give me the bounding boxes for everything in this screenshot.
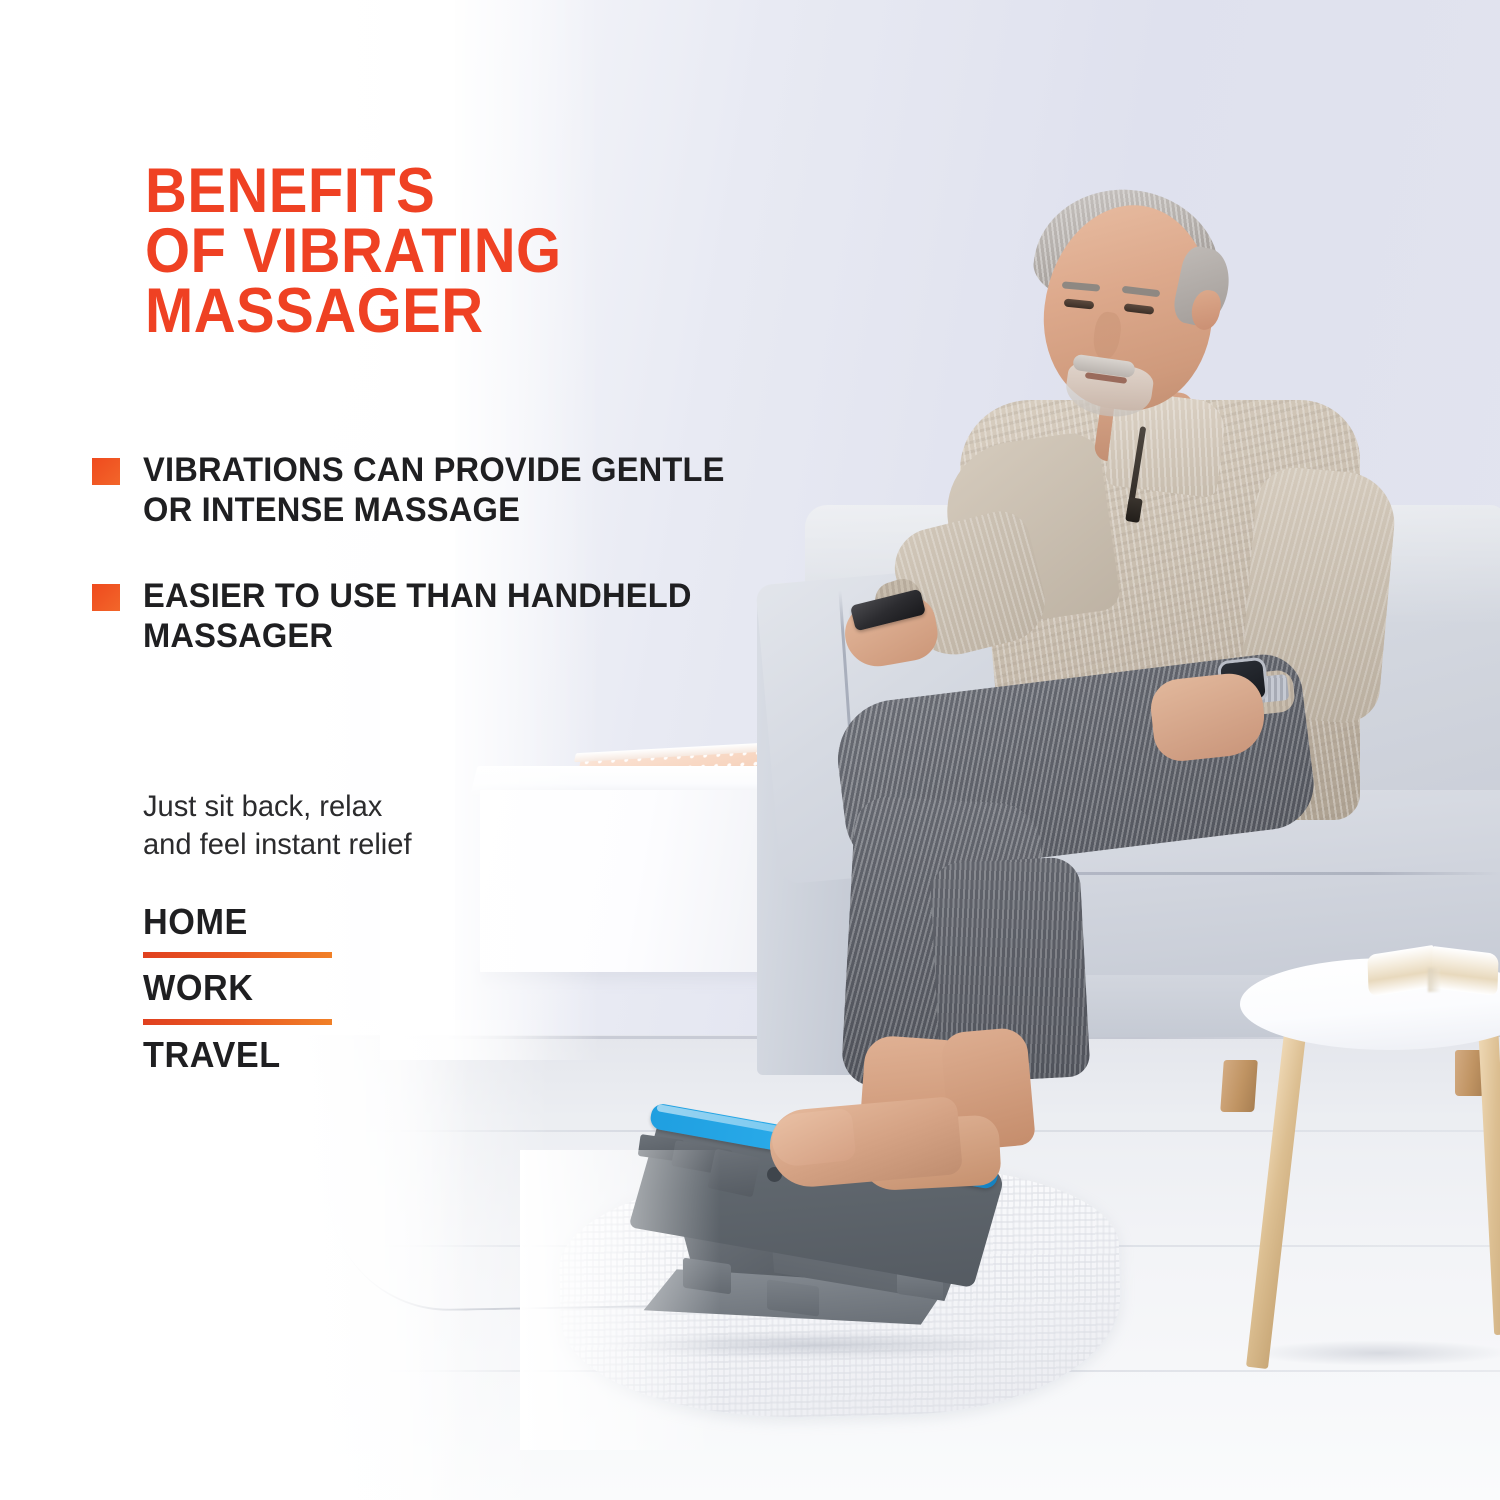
list-item: EASIER TO USE THAN HANDHELD MASSAGER bbox=[92, 576, 752, 656]
supporting-text-line-1: Just sit back, relax bbox=[143, 790, 382, 823]
benefit-text: EASIER TO USE THAN HANDHELD MASSAGER bbox=[143, 576, 728, 656]
coffee-table-shadow bbox=[1250, 1340, 1500, 1366]
use-case-travel: TRAVEL bbox=[143, 1031, 419, 1081]
square-bullet-icon bbox=[92, 584, 120, 611]
headline-line-3: MASSAGER bbox=[145, 276, 484, 346]
use-case-home: HOME bbox=[143, 898, 419, 948]
book-right-page bbox=[1431, 946, 1498, 996]
supporting-text: Just sit back, relaxand feel instant rel… bbox=[143, 788, 560, 865]
use-case-divider bbox=[143, 952, 332, 958]
page-title: BENEFITSOF VIBRATINGMASSAGER bbox=[145, 162, 715, 342]
open-book bbox=[1368, 942, 1500, 994]
book-left-page bbox=[1367, 945, 1434, 997]
copy-panel: BENEFITSOF VIBRATINGMASSAGER VIBRATIONS … bbox=[0, 0, 760, 1500]
supporting-text-line-2: and feel instant relief bbox=[143, 828, 412, 861]
list-item: VIBRATIONS CAN PROVIDE GENTLE OR INTENSE… bbox=[92, 450, 752, 530]
use-case-work: WORK bbox=[143, 964, 419, 1014]
sofa-leg bbox=[1220, 1060, 1258, 1112]
use-case-divider bbox=[143, 1019, 332, 1025]
square-bullet-icon bbox=[92, 458, 120, 485]
product-marketing-image: BENEFITSOF VIBRATINGMASSAGER VIBRATIONS … bbox=[0, 0, 1500, 1500]
use-case-list: HOME WORK TRAVEL bbox=[143, 898, 433, 1081]
benefit-list: VIBRATIONS CAN PROVIDE GENTLE OR INTENSE… bbox=[92, 450, 752, 702]
book-spine bbox=[1428, 968, 1440, 992]
benefit-text: VIBRATIONS CAN PROVIDE GENTLE OR INTENSE… bbox=[143, 450, 728, 530]
